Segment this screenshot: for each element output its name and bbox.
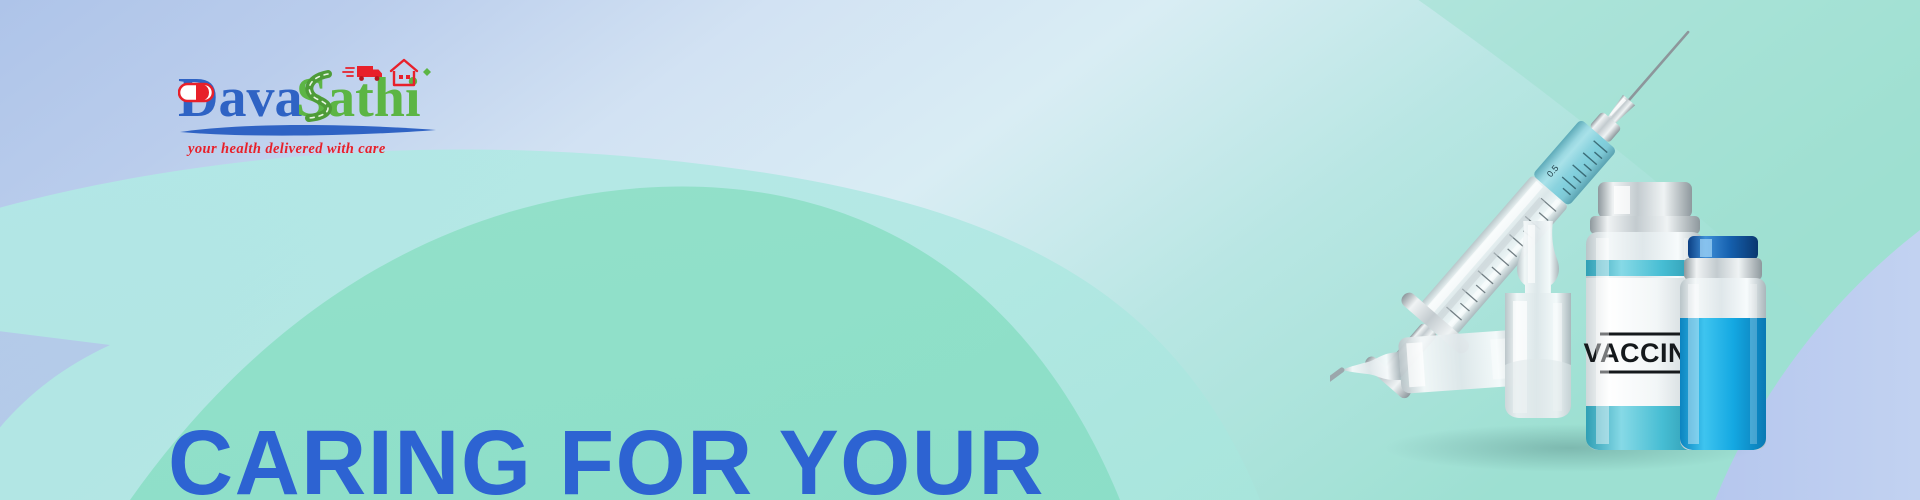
blue-vial-collar [1684,258,1762,280]
ampoule-standing-liquid [1505,359,1571,418]
blue-capped-vial [1680,236,1766,450]
vial-cap [1598,182,1692,218]
brand-logo-graphic: Dava Sathi [178,54,448,159]
vaccine-syringe-graphic: 0.5 [1330,30,1770,480]
promo-banner: Dava Sathi [0,0,1920,500]
ampoule-tip [1330,370,1343,386]
logo-tagline: your health delivered with care [186,141,386,157]
pill-capsule-icon [179,84,213,101]
vaccine-syringe-illustration: 0.5 [1330,30,1770,480]
glass-ampoule-lying [1330,329,1527,399]
vial-cap-collar [1590,216,1700,234]
brand-logo[interactable]: Dava Sathi [178,54,448,159]
headline: CARING FOR YOUR HEALTH EVERY DAY [168,198,1197,500]
blue-vial-cap [1688,236,1758,260]
headline-line-1: CARING FOR YOUR [168,410,1197,500]
needle [1629,32,1688,100]
